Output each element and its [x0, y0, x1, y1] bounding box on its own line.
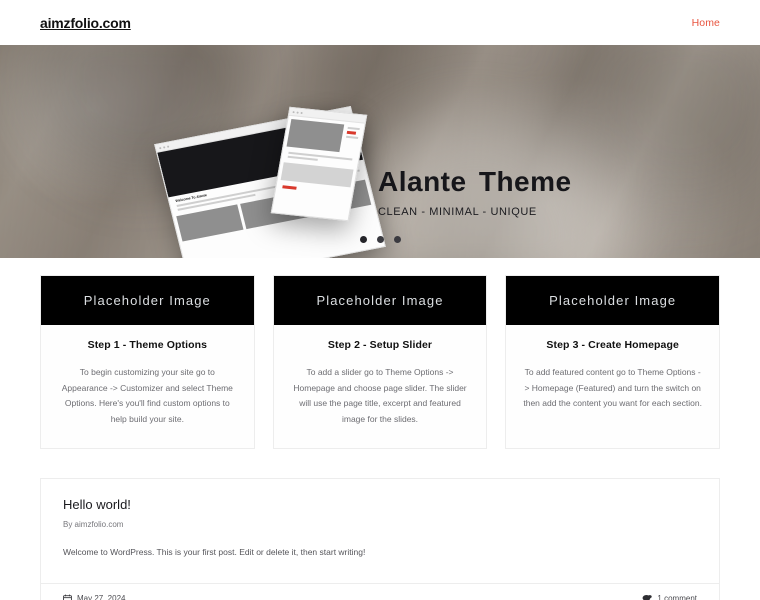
site-header: aimzfolio.com Home [0, 0, 760, 45]
placeholder-image-label: Placeholder Image [84, 293, 211, 308]
slide-dot-2[interactable] [377, 236, 384, 243]
placeholder-image-label: Placeholder Image [316, 293, 443, 308]
slide-dot-1[interactable] [360, 236, 367, 243]
hero-slider[interactable]: Welcome To Alante Alante Theme [0, 45, 760, 258]
feature-card-title: Step 3 - Create Homepage [522, 339, 703, 351]
post-byline: By aimzfolio.com [63, 520, 697, 529]
hero-caption: Alante Theme CLEAN - MINIMAL - UNIQUE [378, 167, 572, 218]
feature-card-placeholder-image: Placeholder Image [506, 276, 719, 325]
feature-card-body: Step 2 - Setup Slider To add a slider go… [274, 325, 487, 448]
calendar-icon [63, 594, 72, 600]
mockup-thumbnail [281, 162, 354, 187]
mockup-thumbnail [287, 119, 345, 152]
mockup-content-row [283, 116, 365, 157]
feature-card-title: Step 1 - Theme Options [57, 339, 238, 351]
post-comments-meta[interactable]: 1 comment [642, 594, 697, 600]
post-date-label: May 27, 2024 [77, 594, 125, 600]
feature-card-body: Step 1 - Theme Options To begin customiz… [41, 325, 254, 448]
feature-card-text: To begin customizing your site go to App… [57, 365, 238, 428]
post-footer: May 27, 2024 1 comment [41, 583, 719, 600]
blog-post-section: Hello world! By aimzfolio.com Welcome to… [0, 449, 760, 600]
nav-link-home[interactable]: Home [692, 17, 720, 29]
mockup-text-line [348, 127, 360, 130]
hero-slider-dots [0, 236, 760, 243]
hero-title: Alante Theme [378, 167, 572, 198]
mockup-accent-bar [347, 131, 356, 135]
feature-card-text: To add a slider go to Theme Options -> H… [290, 365, 471, 428]
site-title-link[interactable]: aimzfolio.com [40, 15, 131, 31]
feature-card-step-1[interactable]: Placeholder Image Step 1 - Theme Options… [40, 275, 255, 449]
feature-card-step-2[interactable]: Placeholder Image Step 2 - Setup Slider … [273, 275, 488, 449]
feature-card-body: Step 3 - Create Homepage To add featured… [506, 325, 719, 432]
mockup-sidebar [342, 125, 361, 154]
feature-cards-section: Placeholder Image Step 1 - Theme Options… [0, 258, 760, 449]
post-card: Hello world! By aimzfolio.com Welcome to… [40, 478, 720, 600]
post-main: Hello world! By aimzfolio.com Welcome to… [41, 479, 719, 583]
hero-subtitle: CLEAN - MINIMAL - UNIQUE [378, 206, 572, 218]
feature-card-placeholder-image: Placeholder Image [41, 276, 254, 325]
primary-navigation: Home [692, 17, 720, 29]
feature-card-placeholder-image: Placeholder Image [274, 276, 487, 325]
post-date-meta: May 27, 2024 [63, 594, 125, 600]
slide-dot-3[interactable] [394, 236, 401, 243]
mockup-accent-bar [282, 185, 296, 189]
feature-card-text: To add featured content go to Theme Opti… [522, 365, 703, 412]
post-comments-label: 1 comment [657, 594, 697, 600]
placeholder-image-label: Placeholder Image [549, 293, 676, 308]
comment-bubble-icon [642, 594, 652, 600]
post-excerpt: Welcome to WordPress. This is your first… [63, 545, 697, 559]
post-title-link[interactable]: Hello world! [63, 497, 697, 512]
feature-card-step-3[interactable]: Placeholder Image Step 3 - Create Homepa… [505, 275, 720, 449]
feature-card-title: Step 2 - Setup Slider [290, 339, 471, 351]
mockup-text-line [346, 136, 358, 139]
